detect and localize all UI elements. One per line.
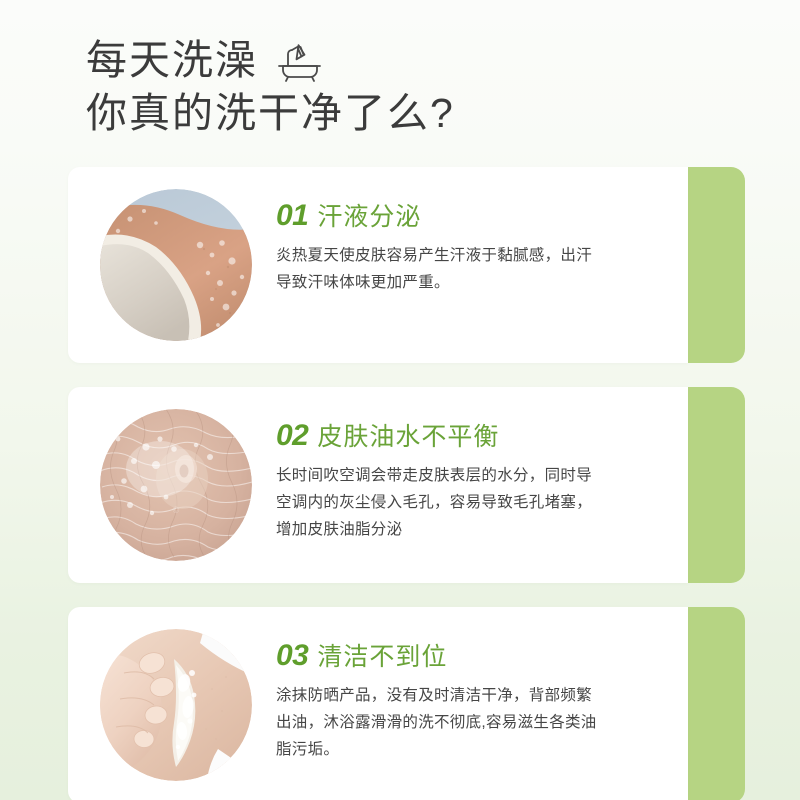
card-number-03: 03 [276,641,308,671]
page-title-line-2: 你真的洗干净了么? [86,87,726,140]
reason-card-03[interactable]: 03 清洁不到位 涂抹防晒产品，没有及时清洁干净，背部频繁出油，沐浴露滑滑的洗不… [0,607,800,800]
page-header: 每天洗澡 你真的洗干净了么? [86,34,726,140]
card-number-02: 02 [276,421,308,451]
svg-text:©: © [173,505,180,515]
accent-bar-01 [688,167,745,363]
card-title-02: 皮肤油水不平衡 [317,425,499,450]
card-description-01: 炎热夏天使皮肤容易产生汗液于黏腻感，出汗导致汗味体味更加严重。 [276,242,606,296]
skin-texture-macro-photo: © [100,409,252,561]
sweaty-shoulder-photo [100,189,252,341]
reason-card-02[interactable]: © 02 皮肤油水不平衡 长时间吹空调会带走皮肤表层的水分，同时导空调内的灰尘侵… [0,387,800,583]
page-title-text-2: 你真的洗干净了么? [86,87,455,140]
hand-applying-cream-photo [100,629,252,781]
card-head-03: 03 清洁不到位 [276,641,662,671]
text-col-01: 01 汗液分泌 炎热夏天使皮肤容易产生汗液于黏腻感，出汗导致汗味体味更加严重。 [252,167,688,326]
page-title-text-1: 每天洗澡 [86,34,258,87]
thumb-col-02: © [68,387,252,583]
thumb-col-01 [68,167,252,363]
accent-bar-03 [688,607,745,800]
card-title-01: 汗液分泌 [317,205,421,230]
card-description-02: 长时间吹空调会带走皮肤表层的水分，同时导空调内的灰尘侵入毛孔，容易导致毛孔堵塞，… [276,462,606,543]
reason-card-list: 01 汗液分泌 炎热夏天使皮肤容易产生汗液于黏腻感，出汗导致汗味体味更加严重。 [0,167,800,800]
text-col-03: 03 清洁不到位 涂抹防晒产品，没有及时清洁干净，背部频繁出油，沐浴露滑滑的洗不… [252,607,688,793]
card-description-03: 涂抹防晒产品，没有及时清洁干净，背部频繁出油，沐浴露滑滑的洗不彻底,容易滋生各类… [276,682,606,763]
thumb-col-03 [68,607,252,800]
bathtub-shower-icon [272,43,324,83]
text-col-02: 02 皮肤油水不平衡 长时间吹空调会带走皮肤表层的水分，同时导空调内的灰尘侵入毛… [252,387,688,573]
card-head-02: 02 皮肤油水不平衡 [276,421,662,451]
card-head-01: 01 汗液分泌 [276,201,662,231]
page-title-line-1: 每天洗澡 [86,34,726,87]
accent-bar-02 [688,387,745,583]
reason-card-01[interactable]: 01 汗液分泌 炎热夏天使皮肤容易产生汗液于黏腻感，出汗导致汗味体味更加严重。 [0,167,800,363]
card-number-01: 01 [276,201,308,231]
card-title-03: 清洁不到位 [317,645,447,670]
